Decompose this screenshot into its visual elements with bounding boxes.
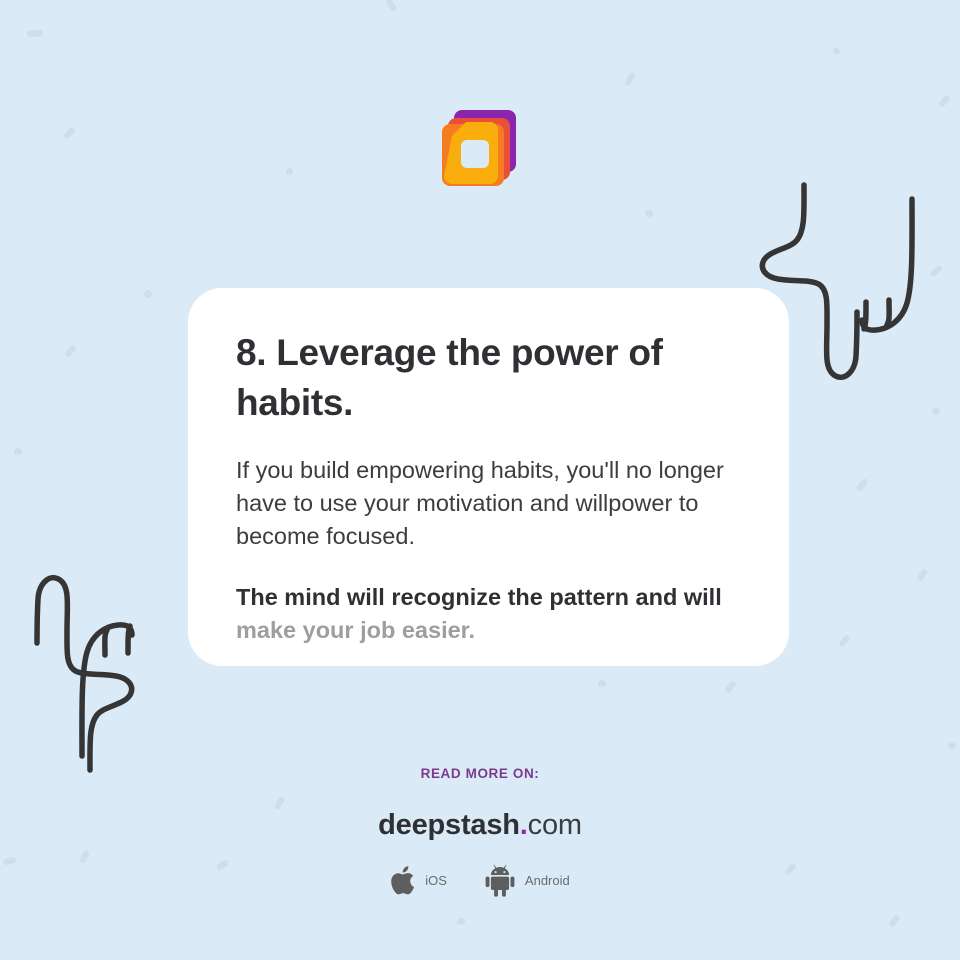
- confetti-dash: [14, 448, 22, 455]
- deepstash-logo: [434, 104, 526, 196]
- confetti-dash: [624, 71, 637, 86]
- footer: READ MORE ON: deepstash.com iOS: [0, 766, 960, 897]
- brand-wordmark[interactable]: deepstash.com: [0, 809, 960, 842]
- highlight-line-2: make your job easier.: [236, 617, 475, 643]
- confetti-dash: [144, 290, 152, 298]
- quote-card: 8. Leverage the power of habits. If you …: [188, 288, 789, 666]
- logo-container: [0, 104, 960, 196]
- store-badges: iOS: [0, 864, 960, 897]
- card-highlight-text: The mind will recognize the pattern and …: [236, 581, 741, 647]
- confetti-dash: [838, 634, 851, 648]
- poster-canvas: 8. Leverage the power of habits. If you …: [0, 0, 960, 960]
- ios-store-badge[interactable]: iOS: [390, 864, 447, 897]
- ios-store-label: iOS: [425, 873, 447, 888]
- android-store-badge[interactable]: Android: [485, 864, 570, 897]
- confetti-dash: [457, 918, 465, 925]
- confetti-dash: [27, 30, 43, 37]
- confetti-dash: [855, 478, 868, 493]
- brand-dot: .: [520, 809, 528, 841]
- confetti-dash: [645, 210, 653, 217]
- confetti-dash: [930, 264, 944, 277]
- confetti-dash: [832, 47, 841, 55]
- brand-name: deepstash: [378, 809, 520, 841]
- confetti-dash: [598, 680, 606, 687]
- confetti-dash: [948, 742, 956, 749]
- confetti-dash: [724, 680, 737, 694]
- android-icon: [485, 864, 517, 897]
- read-more-label: READ MORE ON:: [0, 766, 960, 781]
- confetti-dash: [64, 344, 77, 358]
- android-store-label: Android: [525, 873, 570, 888]
- highlight-line-1: The mind will recognize the pattern and …: [236, 584, 722, 610]
- confetti-dash: [386, 0, 398, 12]
- confetti-dash: [916, 568, 928, 582]
- card-body-text: If you build empowering habits, you'll n…: [236, 454, 741, 553]
- apple-icon: [390, 864, 417, 897]
- page-title: 8. Leverage the power of habits.: [236, 328, 741, 428]
- brand-tld: com: [528, 809, 582, 841]
- confetti-dash: [932, 408, 940, 415]
- confetti-dash: [888, 914, 900, 928]
